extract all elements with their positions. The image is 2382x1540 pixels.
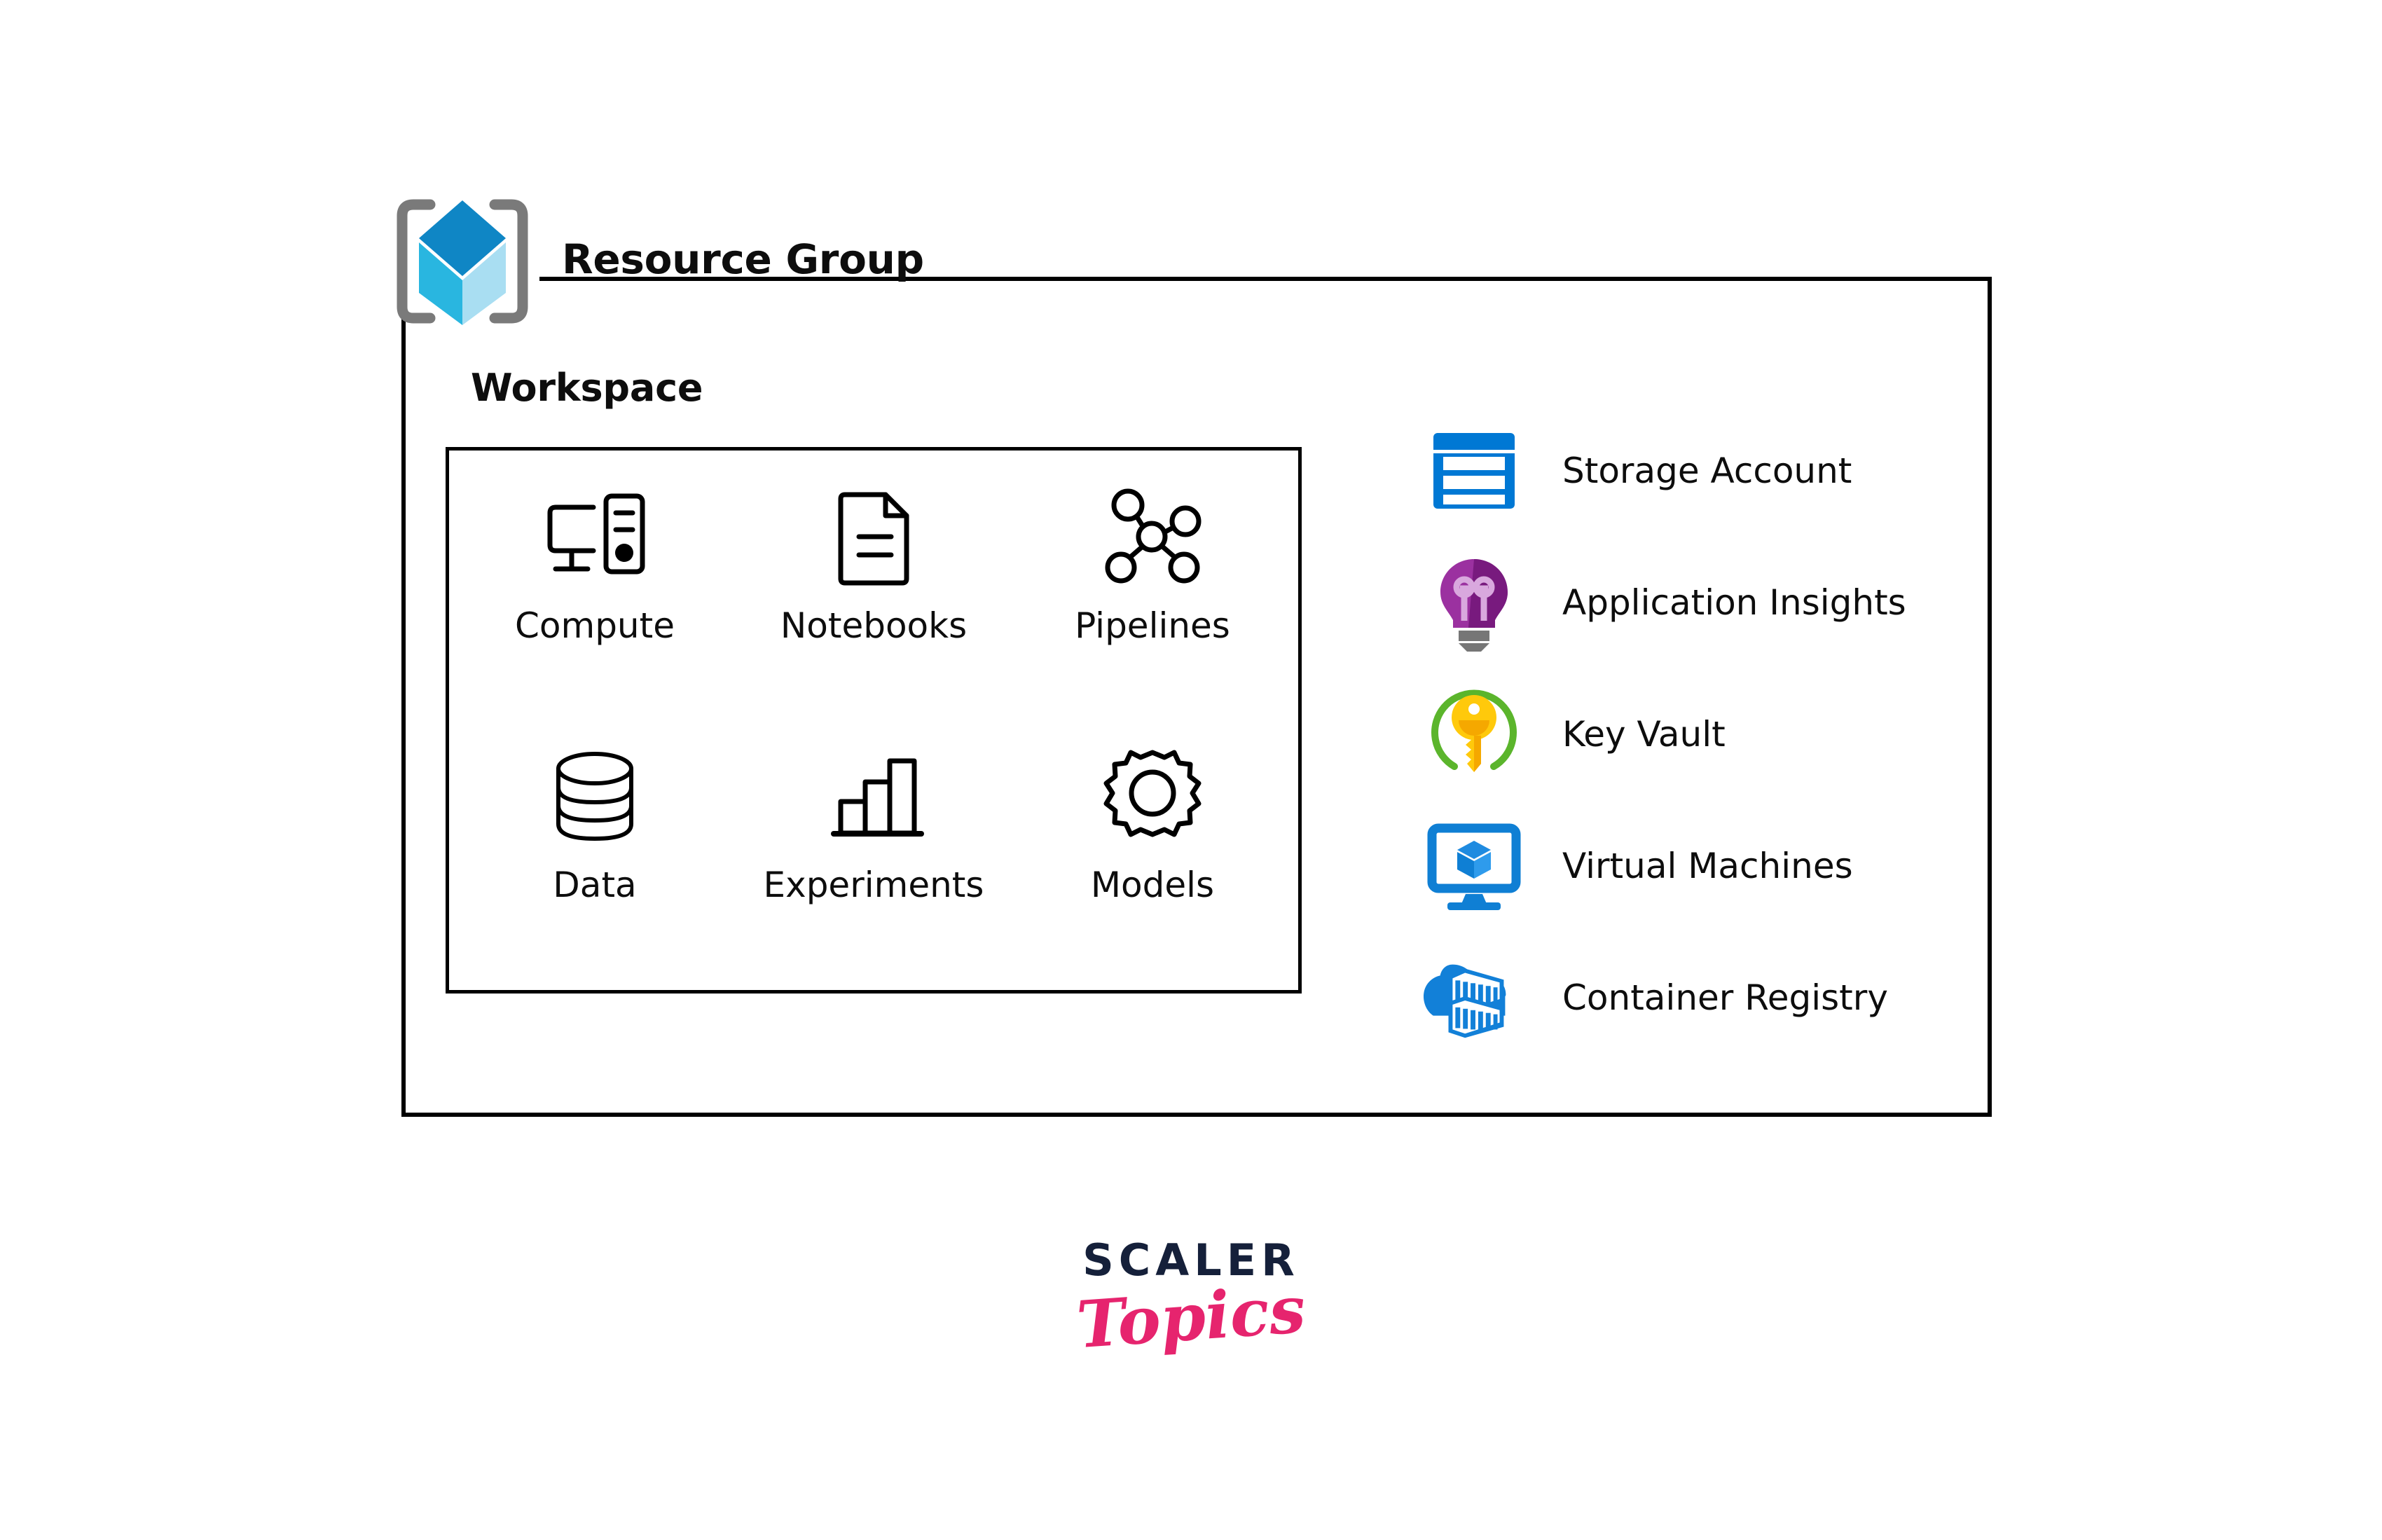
data-database-cylinder-icon <box>542 738 647 858</box>
service-label: Application Insights <box>1562 585 1906 620</box>
service-row-application-insights[interactable]: Application Insights <box>1422 537 1955 668</box>
workspace-title: Workspace <box>471 369 703 407</box>
workspace-item-label: Experiments <box>764 867 984 902</box>
storage-account-icon <box>1422 419 1526 523</box>
service-row-virtual-machines[interactable]: Virtual Machines <box>1422 800 1955 932</box>
services-list: Storage Account Application Insights <box>1422 405 1955 1064</box>
topics-wordmark: Topics <box>1075 1277 1307 1358</box>
resource-group-cube-icon <box>390 195 535 328</box>
experiments-bar-chart-icon <box>821 738 926 858</box>
scaler-topics-logo: SCALER Topics <box>0 1239 2382 1349</box>
workspace-item-compute[interactable]: Compute <box>455 462 734 643</box>
workspace-item-notebooks[interactable]: Notebooks <box>734 462 1013 643</box>
workspace-item-label: Data <box>553 867 636 902</box>
key-vault-icon <box>1422 682 1526 786</box>
workspace-item-data[interactable]: Data <box>455 722 734 902</box>
application-insights-bulb-icon <box>1422 551 1526 654</box>
compute-monitor-tower-icon <box>539 479 651 598</box>
service-row-storage-account[interactable]: Storage Account <box>1422 405 1955 537</box>
workspace-item-label: Notebooks <box>780 608 967 643</box>
resource-group-title: Resource Group <box>562 239 924 284</box>
service-label: Key Vault <box>1562 717 1726 752</box>
service-row-container-registry[interactable]: Container Registry <box>1422 932 1955 1064</box>
service-label: Storage Account <box>1562 453 1852 488</box>
workspace-item-models[interactable]: Models <box>1013 722 1292 902</box>
virtual-machines-icon <box>1422 814 1526 918</box>
service-row-key-vault[interactable]: Key Vault <box>1422 668 1955 800</box>
workspace-item-experiments[interactable]: Experiments <box>734 722 1013 902</box>
service-label: Virtual Machines <box>1562 848 1853 884</box>
workspace-item-label: Models <box>1091 867 1214 902</box>
models-gear-icon <box>1100 738 1205 858</box>
resource-group-header: Resource Group <box>390 195 924 328</box>
workspace-item-label: Compute <box>515 608 675 643</box>
workspace-asset-grid: Compute Notebooks <box>455 462 1292 981</box>
workspace-item-pipelines[interactable]: Pipelines <box>1013 462 1292 643</box>
container-registry-icon <box>1422 946 1526 1050</box>
service-label: Container Registry <box>1562 980 1888 1015</box>
notebook-document-icon <box>828 479 919 598</box>
workspace-item-label: Pipelines <box>1075 608 1230 643</box>
pipelines-node-graph-icon <box>1100 479 1205 598</box>
